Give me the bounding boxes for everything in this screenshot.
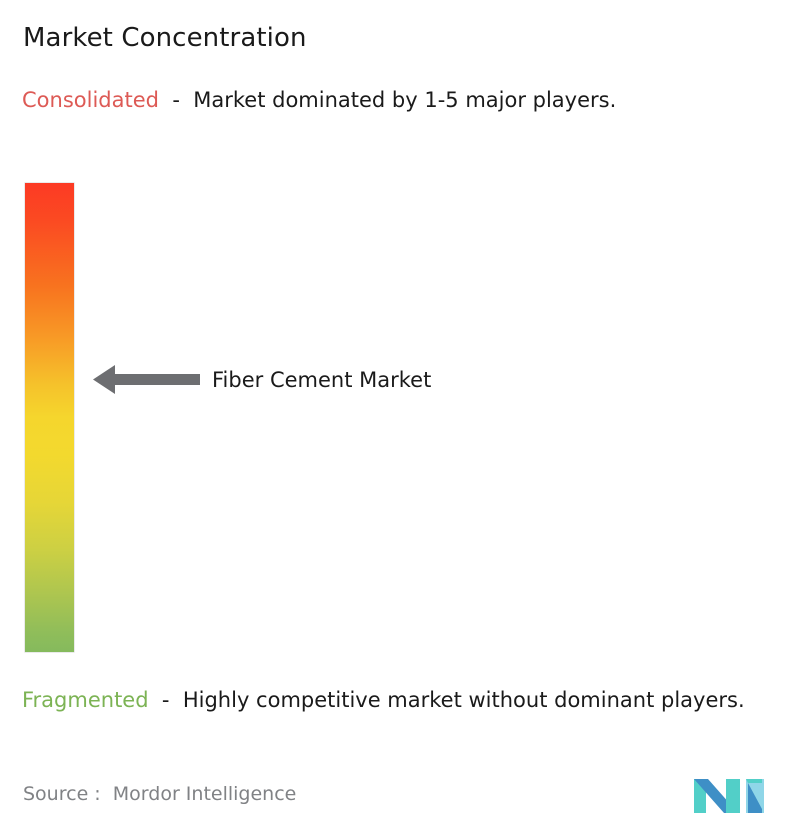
label-fragmented: Fragmented (22, 688, 149, 712)
page-title: Market Concentration (23, 21, 307, 55)
caption-consolidated: Consolidated - Market dominated by 1-5 m… (22, 85, 782, 116)
caption-separator-top: - (159, 88, 193, 112)
market-concentration-chart: Market Concentration Consolidated - Mark… (0, 0, 796, 834)
annotation-fiber-cement-market: Fiber Cement Market (93, 363, 431, 396)
concentration-gradient-bar (25, 183, 74, 652)
caption-fragmented: Fragmented - Highly competitive market w… (22, 685, 787, 716)
label-consolidated: Consolidated (22, 88, 159, 112)
description-fragmented: Highly competitive market without domina… (183, 688, 745, 712)
caption-separator-bottom: - (149, 688, 183, 712)
annotation-label: Fiber Cement Market (212, 367, 431, 393)
arrow-left-icon (93, 363, 200, 396)
mordor-intelligence-logo (692, 769, 774, 817)
source-text: Source : Mordor Intelligence (23, 781, 296, 807)
description-consolidated: Market dominated by 1-5 major players. (193, 88, 616, 112)
